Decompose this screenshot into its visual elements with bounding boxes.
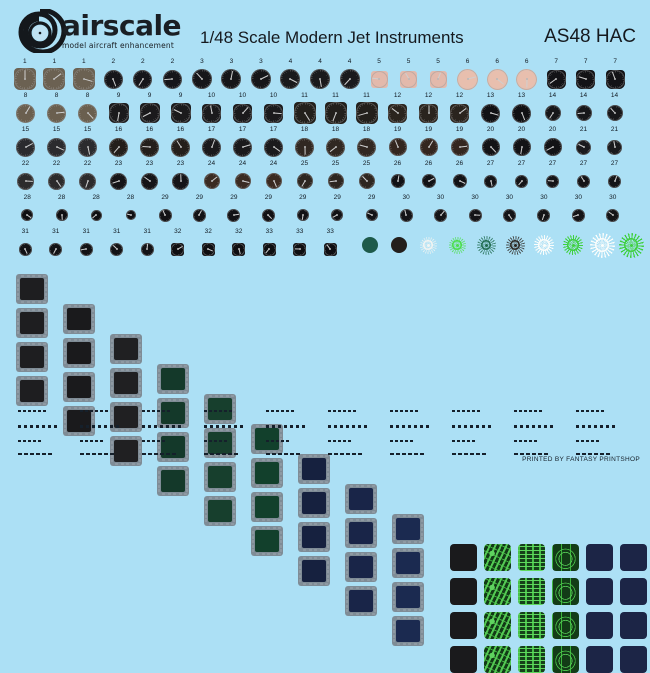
bezel-button[interactable] xyxy=(314,549,317,552)
bezel-button[interactable] xyxy=(419,609,422,612)
bezel-button[interactable] xyxy=(45,297,48,300)
bezel-button[interactable] xyxy=(361,519,364,522)
bezel-button[interactable] xyxy=(327,561,330,564)
bezel-button[interactable] xyxy=(85,305,88,308)
bezel-button[interactable] xyxy=(421,635,424,638)
bezel-button[interactable] xyxy=(280,511,283,514)
bezel-button[interactable] xyxy=(252,472,255,475)
bezel-button[interactable] xyxy=(256,519,259,522)
bezel-button[interactable] xyxy=(205,485,208,488)
bezel-button[interactable] xyxy=(327,507,330,510)
bezel-button[interactable] xyxy=(158,489,161,492)
bezel-button[interactable] xyxy=(278,527,281,530)
bezel-button[interactable] xyxy=(325,489,328,492)
bezel-button[interactable] xyxy=(158,485,161,488)
bezel-button[interactable] xyxy=(74,407,77,410)
bezel-button[interactable] xyxy=(320,557,323,560)
bezel-button[interactable] xyxy=(299,511,302,514)
bezel-button[interactable] xyxy=(79,339,82,342)
bezel-button[interactable] xyxy=(21,309,24,312)
bezel-button[interactable] xyxy=(346,498,349,501)
bezel-button[interactable] xyxy=(303,557,306,560)
bezel-button[interactable] xyxy=(327,473,330,476)
bezel-button[interactable] xyxy=(168,493,171,496)
bezel-button[interactable] xyxy=(421,524,424,527)
bezel-button[interactable] xyxy=(233,515,236,518)
bezel-button[interactable] xyxy=(38,301,41,304)
bezel-button[interactable] xyxy=(421,533,424,536)
bezel-button[interactable] xyxy=(45,327,48,330)
bezel-button[interactable] xyxy=(27,301,30,304)
bezel-button[interactable] xyxy=(21,369,24,372)
bezel-button[interactable] xyxy=(45,347,48,350)
bezel-button[interactable] xyxy=(278,493,281,496)
bezel-button[interactable] xyxy=(393,621,396,624)
bezel-button[interactable] xyxy=(38,377,41,380)
bezel-button[interactable] xyxy=(280,481,283,484)
bezel-button[interactable] xyxy=(280,536,283,539)
bezel-button[interactable] xyxy=(252,497,255,500)
bezel-button[interactable] xyxy=(421,537,424,540)
bezel-button[interactable] xyxy=(367,519,370,522)
bezel-button[interactable] xyxy=(346,503,349,506)
bezel-button[interactable] xyxy=(374,557,377,560)
bezel-button[interactable] xyxy=(327,477,330,480)
bezel-button[interactable] xyxy=(346,562,349,565)
bezel-button[interactable] xyxy=(17,322,20,325)
bezel-button[interactable] xyxy=(421,519,424,522)
bezel-button[interactable] xyxy=(346,596,349,599)
bezel-button[interactable] xyxy=(374,571,377,574)
bezel-button[interactable] xyxy=(346,557,349,560)
bezel-button[interactable] xyxy=(397,541,400,544)
bezel-button[interactable] xyxy=(68,305,71,308)
bezel-button[interactable] xyxy=(393,562,396,565)
bezel-button[interactable] xyxy=(374,562,377,565)
bezel-button[interactable] xyxy=(327,545,330,548)
bezel-button[interactable] xyxy=(21,377,24,380)
bezel-button[interactable] xyxy=(421,596,424,599)
bezel-button[interactable] xyxy=(346,591,349,594)
bezel-button[interactable] xyxy=(397,643,400,646)
bezel-button[interactable] xyxy=(408,515,411,518)
bezel-button[interactable] xyxy=(226,489,229,492)
bezel-button[interactable] xyxy=(299,579,302,582)
bezel-button[interactable] xyxy=(303,583,306,586)
bezel-button[interactable] xyxy=(45,318,48,321)
bezel-button[interactable] xyxy=(320,523,323,526)
bezel-button[interactable] xyxy=(403,515,406,518)
bezel-button[interactable] xyxy=(45,284,48,287)
bezel-button[interactable] xyxy=(45,352,48,355)
bezel-button[interactable] xyxy=(361,587,364,590)
bezel-button[interactable] xyxy=(17,352,20,355)
bezel-button[interactable] xyxy=(421,601,424,604)
bezel-button[interactable] xyxy=(231,489,234,492)
bezel-button[interactable] xyxy=(414,609,417,612)
bezel-button[interactable] xyxy=(309,583,312,586)
bezel-button[interactable] xyxy=(32,301,35,304)
bezel-button[interactable] xyxy=(374,596,377,599)
bezel-button[interactable] xyxy=(273,493,276,496)
bezel-button[interactable] xyxy=(372,613,375,616)
bezel-button[interactable] xyxy=(397,583,400,586)
bezel-button[interactable] xyxy=(393,587,396,590)
bezel-button[interactable] xyxy=(374,523,377,526)
bezel-button[interactable] xyxy=(403,541,406,544)
bezel-button[interactable] xyxy=(397,549,400,552)
bezel-button[interactable] xyxy=(90,339,93,342)
bezel-button[interactable] xyxy=(393,626,396,629)
bezel-button[interactable] xyxy=(209,497,212,500)
bezel-button[interactable] xyxy=(361,579,364,582)
bezel-button[interactable] xyxy=(346,523,349,526)
bezel-button[interactable] xyxy=(374,498,377,501)
bezel-button[interactable] xyxy=(303,515,306,518)
bezel-button[interactable] xyxy=(186,476,189,479)
bezel-button[interactable] xyxy=(231,497,234,500)
bezel-button[interactable] xyxy=(374,609,377,612)
bezel-button[interactable] xyxy=(397,575,400,578)
bezel-button[interactable] xyxy=(320,515,323,518)
bezel-button[interactable] xyxy=(350,519,353,522)
bezel-button[interactable] xyxy=(421,587,424,590)
bezel-button[interactable] xyxy=(397,515,400,518)
bezel-button[interactable] xyxy=(361,613,364,616)
bezel-button[interactable] xyxy=(267,519,270,522)
bezel-button[interactable] xyxy=(252,536,255,539)
bezel-button[interactable] xyxy=(17,279,20,282)
bezel-button[interactable] xyxy=(233,506,236,509)
bezel-button[interactable] xyxy=(408,583,411,586)
bezel-button[interactable] xyxy=(280,531,283,534)
bezel-button[interactable] xyxy=(309,557,312,560)
bezel-button[interactable] xyxy=(374,532,377,535)
bezel-button[interactable] xyxy=(38,343,41,346)
bezel-button[interactable] xyxy=(43,335,46,338)
bezel-button[interactable] xyxy=(327,541,330,544)
bezel-button[interactable] xyxy=(38,335,41,338)
bezel-button[interactable] xyxy=(220,497,223,500)
bezel-button[interactable] xyxy=(267,527,270,530)
bezel-button[interactable] xyxy=(327,566,330,569)
bezel-button[interactable] xyxy=(186,485,189,488)
bezel-button[interactable] xyxy=(372,511,375,514)
bezel-button[interactable] xyxy=(17,395,20,398)
bezel-button[interactable] xyxy=(220,523,223,526)
bezel-button[interactable] xyxy=(299,541,302,544)
bezel-button[interactable] xyxy=(220,489,223,492)
bezel-button[interactable] xyxy=(231,523,234,526)
bezel-button[interactable] xyxy=(421,571,424,574)
bezel-button[interactable] xyxy=(325,583,328,586)
bezel-button[interactable] xyxy=(45,365,48,368)
bezel-button[interactable] xyxy=(299,502,302,505)
bezel-button[interactable] xyxy=(414,643,417,646)
bezel-button[interactable] xyxy=(17,390,20,393)
bezel-button[interactable] xyxy=(45,390,48,393)
bezel-button[interactable] xyxy=(299,575,302,578)
bezel-button[interactable] xyxy=(393,558,396,561)
bezel-button[interactable] xyxy=(374,600,377,603)
bezel-button[interactable] xyxy=(361,545,364,548)
bezel-button[interactable] xyxy=(233,476,236,479)
bezel-button[interactable] xyxy=(361,485,364,488)
bezel-button[interactable] xyxy=(350,579,353,582)
bezel-button[interactable] xyxy=(184,493,187,496)
bezel-button[interactable] xyxy=(372,519,375,522)
bezel-button[interactable] xyxy=(419,575,422,578)
bezel-button[interactable] xyxy=(356,511,359,514)
bezel-button[interactable] xyxy=(267,493,270,496)
bezel-button[interactable] xyxy=(280,515,283,518)
bezel-button[interactable] xyxy=(374,591,377,594)
bezel-button[interactable] xyxy=(43,369,46,372)
bezel-button[interactable] xyxy=(85,373,88,376)
bezel-button[interactable] xyxy=(158,471,161,474)
bezel-button[interactable] xyxy=(299,561,302,564)
bezel-button[interactable] xyxy=(278,553,281,556)
bezel-button[interactable] xyxy=(397,617,400,620)
bezel-button[interactable] xyxy=(350,587,353,590)
bezel-button[interactable] xyxy=(419,549,422,552)
bezel-button[interactable] xyxy=(303,549,306,552)
bezel-button[interactable] xyxy=(299,527,302,530)
bezel-button[interactable] xyxy=(408,643,411,646)
bezel-button[interactable] xyxy=(17,318,20,321)
bezel-button[interactable] xyxy=(372,553,375,556)
bezel-button[interactable] xyxy=(403,575,406,578)
bezel-button[interactable] xyxy=(419,643,422,646)
bezel-button[interactable] xyxy=(45,288,48,291)
bezel-button[interactable] xyxy=(252,531,255,534)
bezel-button[interactable] xyxy=(215,497,218,500)
bezel-button[interactable] xyxy=(356,545,359,548)
bezel-button[interactable] xyxy=(17,386,20,389)
bezel-button[interactable] xyxy=(252,549,255,552)
bezel-button[interactable] xyxy=(421,639,424,642)
bezel-button[interactable] xyxy=(233,472,236,475)
bezel-button[interactable] xyxy=(393,601,396,604)
bezel-button[interactable] xyxy=(262,527,265,530)
bezel-button[interactable] xyxy=(32,309,35,312)
bezel-button[interactable] xyxy=(421,567,424,570)
bezel-button[interactable] xyxy=(209,523,212,526)
bezel-button[interactable] xyxy=(374,541,377,544)
bezel-button[interactable] xyxy=(346,600,349,603)
bezel-button[interactable] xyxy=(90,305,93,308)
bezel-button[interactable] xyxy=(32,369,35,372)
bezel-button[interactable] xyxy=(252,481,255,484)
bezel-button[interactable] xyxy=(408,617,411,620)
bezel-button[interactable] xyxy=(262,493,265,496)
bezel-button[interactable] xyxy=(367,579,370,582)
bezel-button[interactable] xyxy=(280,472,283,475)
bezel-button[interactable] xyxy=(309,481,312,484)
bezel-button[interactable] xyxy=(350,553,353,556)
bezel-button[interactable] xyxy=(45,331,48,334)
bezel-button[interactable] xyxy=(309,489,312,492)
bezel-button[interactable] xyxy=(205,501,208,504)
bezel-button[interactable] xyxy=(43,301,46,304)
bezel-button[interactable] xyxy=(403,583,406,586)
bezel-button[interactable] xyxy=(393,524,396,527)
bezel-button[interactable] xyxy=(299,498,302,501)
bezel-button[interactable] xyxy=(162,493,165,496)
bezel-button[interactable] xyxy=(374,537,377,540)
bezel-button[interactable] xyxy=(256,493,259,496)
bezel-button[interactable] xyxy=(79,407,82,410)
bezel-button[interactable] xyxy=(421,562,424,565)
bezel-button[interactable] xyxy=(273,519,276,522)
bezel-button[interactable] xyxy=(278,519,281,522)
bezel-button[interactable] xyxy=(421,626,424,629)
bezel-button[interactable] xyxy=(90,407,93,410)
bezel-button[interactable] xyxy=(45,395,48,398)
bezel-button[interactable] xyxy=(303,481,306,484)
bezel-button[interactable] xyxy=(372,587,375,590)
bezel-button[interactable] xyxy=(45,313,48,316)
bezel-button[interactable] xyxy=(314,583,317,586)
bezel-button[interactable] xyxy=(280,502,283,505)
bezel-button[interactable] xyxy=(262,519,265,522)
bezel-button[interactable] xyxy=(393,537,396,540)
bezel-button[interactable] xyxy=(356,587,359,590)
bezel-button[interactable] xyxy=(79,305,82,308)
bezel-button[interactable] xyxy=(158,480,161,483)
bezel-button[interactable] xyxy=(252,545,255,548)
bezel-button[interactable] xyxy=(421,528,424,531)
bezel-button[interactable] xyxy=(408,541,411,544)
bezel-button[interactable] xyxy=(346,507,349,510)
bezel-button[interactable] xyxy=(43,403,46,406)
bezel-button[interactable] xyxy=(350,613,353,616)
bezel-button[interactable] xyxy=(45,386,48,389)
bezel-button[interactable] xyxy=(252,506,255,509)
bezel-button[interactable] xyxy=(273,553,276,556)
bezel-button[interactable] xyxy=(299,566,302,569)
bezel-button[interactable] xyxy=(374,507,377,510)
bezel-button[interactable] xyxy=(361,553,364,556)
bezel-button[interactable] xyxy=(303,523,306,526)
bezel-button[interactable] xyxy=(21,343,24,346)
bezel-button[interactable] xyxy=(74,339,77,342)
bezel-button[interactable] xyxy=(32,403,35,406)
bezel-button[interactable] xyxy=(350,545,353,548)
bezel-button[interactable] xyxy=(421,621,424,624)
bezel-button[interactable] xyxy=(158,476,161,479)
bezel-button[interactable] xyxy=(361,511,364,514)
bezel-button[interactable] xyxy=(215,523,218,526)
bezel-button[interactable] xyxy=(346,571,349,574)
bezel-button[interactable] xyxy=(346,532,349,535)
bezel-button[interactable] xyxy=(299,532,302,535)
bezel-button[interactable] xyxy=(327,579,330,582)
bezel-button[interactable] xyxy=(327,493,330,496)
bezel-button[interactable] xyxy=(408,575,411,578)
bezel-button[interactable] xyxy=(173,493,176,496)
bezel-button[interactable] xyxy=(233,485,236,488)
bezel-button[interactable] xyxy=(27,369,30,372)
bezel-button[interactable] xyxy=(356,613,359,616)
bezel-button[interactable] xyxy=(421,592,424,595)
bezel-button[interactable] xyxy=(38,403,41,406)
bezel-button[interactable] xyxy=(393,533,396,536)
bezel-button[interactable] xyxy=(17,293,20,296)
bezel-button[interactable] xyxy=(327,575,330,578)
bezel-button[interactable] xyxy=(320,489,323,492)
bezel-button[interactable] xyxy=(374,605,377,608)
bezel-button[interactable] xyxy=(403,643,406,646)
bezel-button[interactable] xyxy=(320,583,323,586)
bezel-button[interactable] xyxy=(327,498,330,501)
bezel-button[interactable] xyxy=(252,540,255,543)
bezel-button[interactable] xyxy=(403,609,406,612)
bezel-button[interactable] xyxy=(309,549,312,552)
bezel-button[interactable] xyxy=(32,335,35,338)
bezel-button[interactable] xyxy=(414,515,417,518)
bezel-button[interactable] xyxy=(346,489,349,492)
bezel-button[interactable] xyxy=(233,481,236,484)
bezel-button[interactable] xyxy=(374,528,377,531)
bezel-button[interactable] xyxy=(68,339,71,342)
bezel-button[interactable] xyxy=(17,288,20,291)
bezel-button[interactable] xyxy=(205,515,208,518)
bezel-button[interactable] xyxy=(346,537,349,540)
bezel-button[interactable] xyxy=(374,503,377,506)
bezel-button[interactable] xyxy=(327,527,330,530)
bezel-button[interactable] xyxy=(27,309,30,312)
bezel-button[interactable] xyxy=(367,613,370,616)
bezel-button[interactable] xyxy=(43,275,46,278)
bezel-button[interactable] xyxy=(299,477,302,480)
bezel-button[interactable] xyxy=(90,373,93,376)
bezel-button[interactable] xyxy=(320,481,323,484)
bezel-button[interactable] xyxy=(346,566,349,569)
bezel-button[interactable] xyxy=(414,549,417,552)
bezel-button[interactable] xyxy=(393,639,396,642)
bezel-button[interactable] xyxy=(74,305,77,308)
bezel-button[interactable] xyxy=(68,373,71,376)
bezel-button[interactable] xyxy=(314,523,317,526)
bezel-button[interactable] xyxy=(393,592,396,595)
bezel-button[interactable] xyxy=(414,617,417,620)
bezel-button[interactable] xyxy=(367,545,370,548)
bezel-button[interactable] xyxy=(45,361,48,364)
bezel-button[interactable] xyxy=(278,485,281,488)
bezel-button[interactable] xyxy=(17,331,20,334)
bezel-button[interactable] xyxy=(419,617,422,620)
bezel-button[interactable] xyxy=(414,575,417,578)
bezel-button[interactable] xyxy=(309,523,312,526)
bezel-button[interactable] xyxy=(309,515,312,518)
bezel-button[interactable] xyxy=(320,549,323,552)
bezel-button[interactable] xyxy=(233,510,236,513)
bezel-button[interactable] xyxy=(252,502,255,505)
bezel-button[interactable] xyxy=(17,284,20,287)
bezel-button[interactable] xyxy=(205,506,208,509)
bezel-button[interactable] xyxy=(205,476,208,479)
bezel-button[interactable] xyxy=(421,558,424,561)
bezel-button[interactable] xyxy=(17,347,20,350)
bezel-button[interactable] xyxy=(280,549,283,552)
bezel-button[interactable] xyxy=(179,493,182,496)
bezel-button[interactable] xyxy=(414,541,417,544)
bezel-button[interactable] xyxy=(419,583,422,586)
bezel-button[interactable] xyxy=(74,373,77,376)
bezel-button[interactable] xyxy=(27,403,30,406)
bezel-button[interactable] xyxy=(397,609,400,612)
